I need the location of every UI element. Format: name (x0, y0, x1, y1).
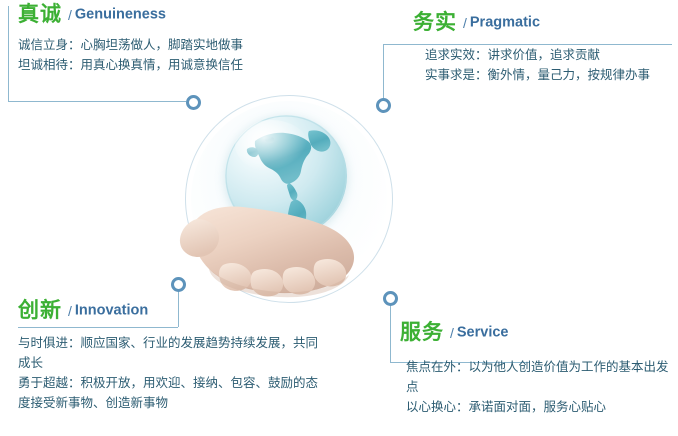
value-block-pragmatic: 务实/Pragmatic 追求实效：讲求价值，追求贡献 实事求是：衡外情，量己力… (413, 12, 668, 85)
heading-separator: / (450, 325, 454, 341)
value-title-en-genuineness: Genuineness (75, 6, 166, 22)
value-block-service: 服务/Service 焦点在外：以为他人创造价值为工作的基本出发点 以心换心：承… (400, 322, 672, 417)
heading-separator: / (68, 303, 72, 319)
value-body-pragmatic: 追求实效：讲求价值，追求贡献 实事求是：衡外情，量己力，按规律办事 (413, 37, 668, 85)
value-line: 与时俱进：顺应国家、行业的发展趋势持续发展，共同成长 (18, 333, 318, 373)
value-title-cn-service: 服务 (400, 320, 444, 344)
connector-node-genuineness (186, 95, 201, 110)
heading-separator: / (463, 15, 467, 31)
value-title-en-innovation: Innovation (75, 302, 148, 318)
connector-line-genuineness (8, 101, 186, 102)
value-heading-genuineness: 真诚/Genuineness (18, 4, 308, 25)
core-values-infographic: 真诚/Genuineness 诚信立身：心胸坦荡做人，脚踏实地做事 坦诚相待：用… (0, 0, 678, 436)
connector-line-pragmatic (383, 44, 384, 100)
value-heading-service: 服务/Service (400, 322, 672, 343)
value-line: 实事求是：衡外情，量己力，按规律办事 (425, 65, 668, 85)
value-body-service: 焦点在外：以为他人创造价值为工作的基本出发点 以心换心：承诺面对面，服务心贴心 (400, 347, 672, 417)
value-block-genuineness: 真诚/Genuineness 诚信立身：心胸坦荡做人，脚踏实地做事 坦诚相待：用… (18, 4, 308, 75)
value-title-cn-genuineness: 真诚 (18, 2, 62, 26)
value-title-cn-pragmatic: 务实 (413, 10, 457, 34)
open-palm-hand-icon (179, 191, 385, 303)
value-block-innovation: 创新/Innovation 与时俱进：顺应国家、行业的发展趋势持续发展，共同成长… (18, 300, 318, 413)
hand-holding-globe-illustration (185, 95, 395, 305)
value-body-genuineness: 诚信立身：心胸坦荡做人，脚踏实地做事 坦诚相待：用真心换真情，用诚意换信任 (18, 29, 308, 75)
connector-node-service (383, 291, 398, 306)
connector-node-innovation (171, 277, 186, 292)
value-title-en-service: Service (457, 324, 509, 340)
value-line: 坦诚相待：用真心换真情，用诚意换信任 (18, 55, 308, 75)
value-line: 诚信立身：心胸坦荡做人，脚踏实地做事 (18, 35, 308, 55)
value-title-en-pragmatic: Pragmatic (470, 14, 540, 30)
connector-line-service (390, 303, 391, 362)
globe-highlight (235, 120, 308, 171)
block-border-genuineness (8, 6, 9, 102)
value-body-innovation: 与时俱进：顺应国家、行业的发展趋势持续发展，共同成长 勇于超越：积极开放，用欢迎… (18, 325, 318, 413)
value-line: 焦点在外：以为他人创造价值为工作的基本出发点 (406, 357, 672, 397)
value-line: 以心换心：承诺面对面，服务心贴心 (406, 397, 672, 417)
value-title-cn-innovation: 创新 (18, 298, 62, 322)
connector-node-pragmatic (376, 98, 391, 113)
value-heading-pragmatic: 务实/Pragmatic (413, 12, 668, 33)
value-line: 勇于超越：积极开放，用欢迎、接纳、包容、鼓励的态度接受新事物、创造新事物 (18, 373, 318, 413)
heading-separator: / (68, 7, 72, 23)
value-line: 追求实效：讲求价值，追求贡献 (425, 45, 668, 65)
value-heading-innovation: 创新/Innovation (18, 300, 318, 321)
